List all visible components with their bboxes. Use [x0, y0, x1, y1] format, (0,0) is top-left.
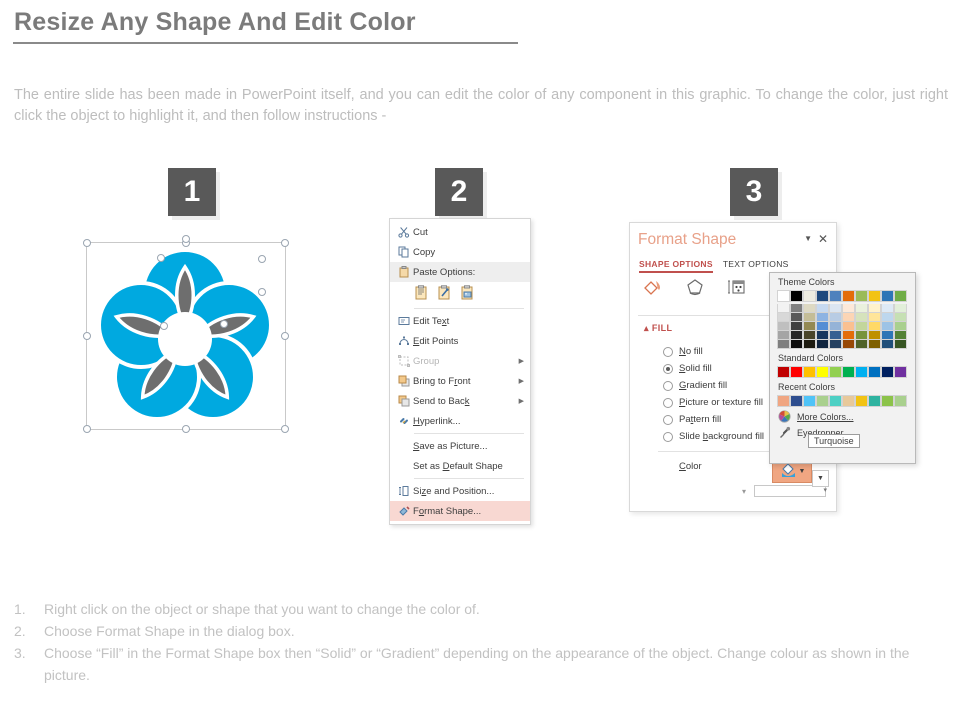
radio-indicator[interactable]: [663, 347, 673, 357]
theme-color-column[interactable]: [829, 290, 840, 349]
step-text: Choose Format Shape in the dialog box.: [44, 620, 295, 642]
color-swatch[interactable]: [842, 395, 855, 407]
color-swatch[interactable]: [868, 322, 881, 331]
color-swatch[interactable]: [894, 322, 907, 331]
effects-pentagon-icon[interactable]: [684, 277, 706, 302]
size-properties-icon[interactable]: [726, 277, 748, 302]
selection-handle-bc[interactable]: [182, 425, 190, 433]
color-swatch[interactable]: [803, 304, 816, 313]
color-swatch[interactable]: [803, 331, 816, 340]
flower-shape[interactable]: [86, 242, 284, 428]
radio-pattern-fill[interactable]: Pattern fill: [663, 411, 764, 428]
tab-shape-options[interactable]: SHAPE OPTIONS: [639, 259, 713, 273]
color-swatch[interactable]: [894, 395, 907, 407]
color-swatch[interactable]: [777, 290, 790, 302]
pane-tabs[interactable]: SHAPE OPTIONS TEXT OPTIONS: [639, 259, 789, 273]
color-swatch[interactable]: [855, 322, 868, 331]
radio-label: Pattern fill: [679, 414, 721, 425]
more-colors-label: More Colors...: [797, 412, 854, 422]
color-label: Color: [679, 461, 702, 472]
radio-label: Picture or texture fill: [679, 397, 763, 408]
color-swatch[interactable]: [790, 304, 803, 313]
selection-handle-br[interactable]: [281, 425, 289, 433]
theme-color-column[interactable]: [881, 290, 892, 349]
color-swatch[interactable]: [855, 340, 868, 349]
radio-indicator[interactable]: [663, 415, 673, 425]
color-swatch[interactable]: [881, 340, 894, 349]
chevron-right-icon: ▶: [519, 397, 524, 405]
menu-label: Paste Options:: [413, 267, 524, 278]
color-swatch[interactable]: [816, 366, 829, 378]
color-swatch[interactable]: [868, 313, 881, 322]
color-swatch[interactable]: [829, 313, 842, 322]
color-swatch[interactable]: [829, 331, 842, 340]
color-swatch[interactable]: [829, 290, 842, 302]
color-swatch[interactable]: [803, 340, 816, 349]
theme-color-column[interactable]: [855, 290, 866, 349]
edit-points-icon: [395, 335, 413, 347]
chevron-right-icon: ▶: [519, 357, 524, 365]
radio-slide-background-fill[interactable]: Slide background fill: [663, 428, 764, 445]
step-badge-3: 3: [730, 168, 778, 216]
color-swatch[interactable]: [816, 331, 829, 340]
color-swatch[interactable]: [816, 322, 829, 331]
theme-color-column[interactable]: [777, 290, 788, 349]
color-swatch[interactable]: [881, 322, 894, 331]
rotate-handle[interactable]: [182, 235, 190, 243]
pane-toolbar[interactable]: [642, 277, 748, 302]
color-swatch[interactable]: [894, 366, 907, 378]
menu-item-group[interactable]: Group ▶: [390, 351, 530, 371]
send-to-back-icon: [395, 395, 413, 407]
theme-color-column[interactable]: [816, 290, 827, 349]
steps-list: 1. Right click on the object or shape th…: [14, 598, 944, 686]
color-swatch[interactable]: [790, 290, 803, 302]
color-swatch[interactable]: [803, 313, 816, 322]
color-swatch[interactable]: [868, 395, 881, 407]
color-swatch[interactable]: [855, 331, 868, 340]
theme-colors-grid[interactable]: [770, 290, 915, 349]
color-swatch[interactable]: [790, 313, 803, 322]
page-title: Resize Any Shape And Edit Color: [14, 8, 416, 37]
menu-item-paste-options[interactable]: Paste Options:: [390, 262, 530, 282]
step-text: Right click on the object or shape that …: [44, 598, 480, 620]
color-swatch[interactable]: [894, 313, 907, 322]
group-icon: [395, 355, 413, 367]
color-swatch[interactable]: [894, 331, 907, 340]
step-number: 3.: [14, 642, 34, 686]
bring-to-front-icon: [395, 375, 413, 387]
title-underline: [13, 42, 518, 44]
color-swatch[interactable]: [881, 331, 894, 340]
theme-color-column[interactable]: [894, 290, 905, 349]
color-swatch[interactable]: [868, 340, 881, 349]
radio-label: Gradient fill: [679, 380, 727, 391]
color-swatch[interactable]: [790, 395, 803, 407]
tab-text-options[interactable]: TEXT OPTIONS: [723, 259, 789, 273]
color-swatch[interactable]: [829, 304, 842, 313]
selection-handle-tl[interactable]: [83, 239, 91, 247]
color-swatch[interactable]: [881, 304, 894, 313]
fill-options-list[interactable]: No fill Solid fill Gradient fill Picture…: [663, 343, 764, 445]
selection-handle-tr[interactable]: [281, 239, 289, 247]
chevron-right-icon: ▶: [519, 377, 524, 385]
menu-item-edit-text[interactable]: Edit Text: [390, 311, 530, 331]
theme-color-column[interactable]: [868, 290, 879, 349]
radio-gradient-fill[interactable]: Gradient fill: [663, 377, 764, 394]
color-swatch[interactable]: [803, 290, 816, 302]
selection-handle-ml[interactable]: [83, 332, 91, 340]
color-swatch[interactable]: [777, 304, 790, 313]
size-position-icon: [395, 485, 413, 497]
color-swatch[interactable]: [777, 340, 790, 349]
close-icon[interactable]: ✕: [818, 232, 828, 246]
adjust-handle-4[interactable]: [258, 288, 266, 296]
adjust-handle-1[interactable]: [157, 254, 165, 262]
color-swatch[interactable]: [816, 290, 829, 302]
color-swatch[interactable]: [829, 322, 842, 331]
more-colors-item[interactable]: More Colors...: [770, 407, 915, 423]
color-swatch[interactable]: [777, 366, 790, 378]
paste-options-row[interactable]: [390, 282, 530, 306]
hyperlink-icon: [395, 415, 413, 427]
menu-label: Edit Points: [413, 336, 524, 347]
color-swatch[interactable]: [881, 290, 894, 302]
menu-label: Copy: [413, 247, 524, 258]
radio-no-fill[interactable]: No fill: [663, 343, 764, 360]
copy-icon: [395, 246, 413, 258]
color-swatch[interactable]: [842, 340, 855, 349]
menu-item-bring-to-front[interactable]: Bring to Front ▶: [390, 371, 530, 391]
menu-separator: [414, 433, 524, 434]
menu-label: Format Shape...: [413, 506, 524, 517]
eyedropper-icon: [778, 426, 791, 439]
theme-color-column[interactable]: [842, 290, 853, 349]
radio-solid-fill[interactable]: Solid fill: [663, 360, 764, 377]
color-swatch[interactable]: [881, 395, 894, 407]
menu-item-edit-points[interactable]: Edit Points: [390, 331, 530, 351]
radio-indicator[interactable]: [663, 364, 673, 374]
menu-label: Save as Picture...: [413, 441, 524, 452]
color-swatch[interactable]: [816, 313, 829, 322]
edit-text-icon: [395, 315, 413, 327]
menu-item-cut[interactable]: Cut: [390, 222, 530, 242]
step-badge-1: 1: [168, 168, 216, 216]
menu-item-format-shape[interactable]: Format Shape...: [390, 501, 530, 521]
color-swatch[interactable]: [868, 366, 881, 378]
color-swatch[interactable]: [790, 340, 803, 349]
list-item: 3. Choose “Fill” in the Format Shape box…: [14, 642, 944, 686]
color-swatch[interactable]: [790, 322, 803, 331]
context-menu[interactable]: Cut Copy Paste Options: Edit Text: [389, 218, 531, 525]
step-number: 2.: [14, 620, 34, 642]
color-swatch[interactable]: [881, 366, 894, 378]
color-swatch[interactable]: [842, 290, 855, 302]
color-swatch[interactable]: [894, 340, 907, 349]
paste-icon: [395, 266, 413, 278]
adjust-handle-2[interactable]: [160, 322, 168, 330]
standard-colors-grid[interactable]: [770, 366, 915, 378]
color-swatch[interactable]: [855, 290, 868, 302]
radio-indicator[interactable]: [663, 381, 673, 391]
color-swatch[interactable]: [777, 331, 790, 340]
color-swatch[interactable]: [816, 304, 829, 313]
menu-label: Size and Position...: [413, 486, 524, 497]
step-number: 1.: [14, 598, 34, 620]
theme-colors-label: Theme Colors: [770, 273, 915, 290]
color-swatch[interactable]: [855, 313, 868, 322]
color-swatch[interactable]: [855, 366, 868, 378]
chevron-down-icon[interactable]: ▼: [799, 468, 806, 475]
step-text: Choose “Fill” in the Format Shape box th…: [44, 642, 944, 686]
color-swatch[interactable]: [829, 340, 842, 349]
color-swatch[interactable]: [777, 395, 790, 407]
menu-label: Set as Default Shape: [413, 461, 524, 472]
color-swatch[interactable]: [777, 322, 790, 331]
flower-shape-svg: [86, 242, 284, 428]
adjust-handle-3[interactable]: [220, 320, 228, 328]
menu-label: Edit Text: [413, 316, 524, 327]
menu-item-send-to-back[interactable]: Send to Back ▶: [390, 391, 530, 411]
selection-handle-mr[interactable]: [281, 332, 289, 340]
paste-keep-formatting-icon[interactable]: [414, 285, 429, 303]
menu-label: Cut: [413, 227, 524, 238]
pane-title: Format Shape: [638, 231, 736, 249]
menu-item-hyperlink[interactable]: Hyperlink...: [390, 411, 530, 431]
step-badge-2: 2: [435, 168, 483, 216]
color-swatch[interactable]: [868, 331, 881, 340]
list-item: 2. Choose Format Shape in the dialog box…: [14, 620, 944, 642]
menu-label: Bring to Front: [413, 376, 519, 387]
recent-colors-label: Recent Colors: [770, 378, 915, 395]
standard-colors-label: Standard Colors: [770, 349, 915, 366]
menu-label: Send to Back: [413, 396, 519, 407]
radio-label: Slide background fill: [679, 431, 764, 442]
color-swatch[interactable]: [829, 395, 842, 407]
color-swatch[interactable]: [816, 395, 829, 407]
transparency-dropdown[interactable]: ▼: [812, 470, 829, 487]
radio-indicator[interactable]: [663, 432, 673, 442]
color-swatch[interactable]: [842, 304, 855, 313]
color-swatch[interactable]: [868, 304, 881, 313]
color-swatch[interactable]: [894, 304, 907, 313]
radio-indicator[interactable]: [663, 398, 673, 408]
chevron-down-icon[interactable]: ▼: [804, 234, 812, 243]
theme-color-column[interactable]: [790, 290, 801, 349]
list-item: 1. Right click on the object or shape th…: [14, 598, 944, 620]
menu-separator: [414, 478, 524, 479]
color-swatch[interactable]: [777, 313, 790, 322]
color-swatch[interactable]: [790, 366, 803, 378]
color-swatch[interactable]: [881, 313, 894, 322]
color-swatch[interactable]: [803, 366, 816, 378]
recent-colors-grid[interactable]: [770, 395, 915, 407]
menu-item-size-and-position[interactable]: Size and Position...: [390, 481, 530, 501]
paint-bucket-icon: [779, 463, 797, 479]
menu-item-copy[interactable]: Copy: [390, 242, 530, 262]
menu-label: Group: [413, 356, 519, 367]
intro-paragraph: The entire slide has been made in PowerP…: [14, 85, 948, 127]
menu-item-set-default-shape[interactable]: Set as Default Shape: [390, 456, 530, 476]
color-swatch[interactable]: [803, 322, 816, 331]
color-swatch[interactable]: [894, 290, 907, 302]
radio-picture-fill[interactable]: Picture or texture fill: [663, 394, 764, 411]
color-swatch[interactable]: [842, 331, 855, 340]
radio-label: No fill: [679, 346, 703, 357]
color-tooltip: Turquoise: [808, 434, 860, 448]
paste-picture-icon[interactable]: [460, 285, 475, 303]
format-shape-icon: [395, 505, 413, 517]
theme-color-column[interactable]: [803, 290, 814, 349]
scissors-icon: [395, 226, 413, 238]
selection-handle-bl[interactable]: [83, 425, 91, 433]
color-swatch[interactable]: [842, 322, 855, 331]
menu-label: Hyperlink...: [413, 416, 524, 427]
color-swatch[interactable]: [855, 395, 868, 407]
color-swatch[interactable]: [842, 313, 855, 322]
color-swatch[interactable]: [855, 304, 868, 313]
color-wheel-icon: [778, 410, 791, 423]
paste-merge-formatting-icon[interactable]: [437, 285, 452, 303]
fill-section-header[interactable]: ▴ FILL: [644, 323, 672, 334]
color-swatch[interactable]: [829, 366, 842, 378]
radio-label: Solid fill: [679, 363, 712, 374]
menu-separator: [414, 308, 524, 309]
fill-line-icon[interactable]: [642, 277, 664, 302]
color-swatch[interactable]: [868, 290, 881, 302]
color-swatch[interactable]: [803, 395, 816, 407]
color-swatch[interactable]: [790, 331, 803, 340]
adjust-handle-5[interactable]: [258, 255, 266, 263]
color-swatch[interactable]: [816, 340, 829, 349]
color-swatch[interactable]: [842, 366, 855, 378]
menu-item-save-as-picture[interactable]: Save as Picture...: [390, 436, 530, 456]
